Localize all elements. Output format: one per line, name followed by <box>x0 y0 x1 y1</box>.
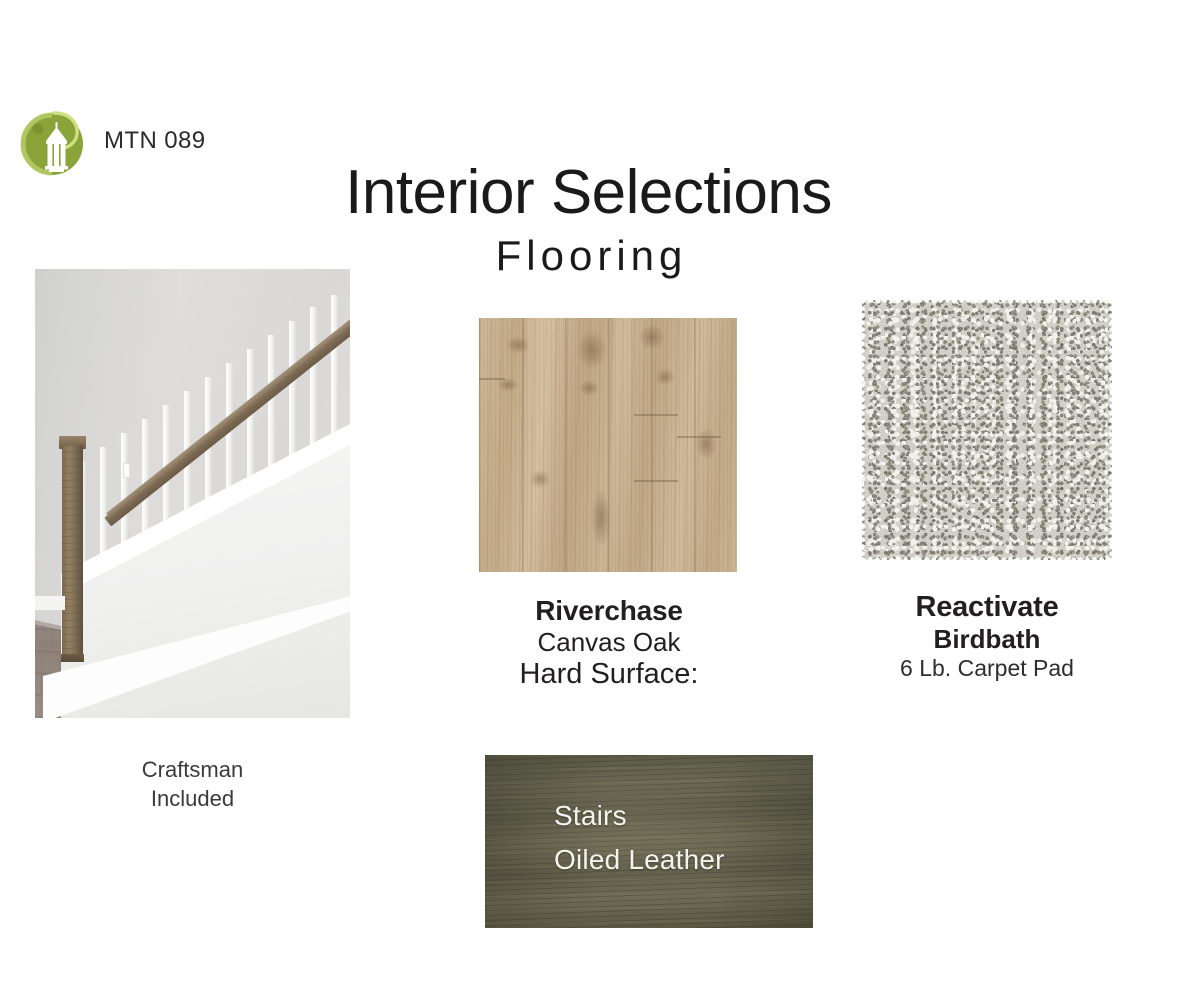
hard-surface-wood-swatch <box>479 318 737 572</box>
stairs-overlay-text: Stairs Oiled Leather <box>554 794 814 882</box>
caption-hard-surface-line2: Canvas Oak <box>449 627 769 657</box>
caption-carpet-line2: Birdbath <box>832 624 1142 655</box>
stairs-overlay-line1: Stairs <box>554 794 814 838</box>
stairs-overlay-line2: Oiled Leather <box>554 838 814 882</box>
caption-staircase-line2: Included <box>35 784 350 813</box>
caption-carpet-line1: Reactivate <box>832 590 1142 624</box>
photo-newel-foot <box>61 654 84 662</box>
caption-hard-surface-line1: Riverchase <box>449 595 769 627</box>
photo-handrail <box>81 297 350 547</box>
carpet-edge-left <box>862 300 866 560</box>
caption-staircase-line1: Craftsman <box>35 755 350 784</box>
caption-hard-surface: Riverchase Canvas Oak Hard Surface: <box>449 595 769 691</box>
carpet-edge-right <box>1108 300 1112 560</box>
staircase-photo <box>35 269 350 718</box>
caption-staircase: Craftsman Included <box>35 755 350 813</box>
carpet-edge-bottom <box>862 556 1112 560</box>
photo-newel-post <box>62 445 83 659</box>
caption-hard-surface-line3: Hard Surface: <box>449 658 769 692</box>
logo-label: MTN 089 <box>104 127 206 155</box>
photo-baseboard-left <box>35 596 65 610</box>
caption-carpet-line3: 6 Lb. Carpet Pad <box>832 655 1142 682</box>
carpet-fuzz <box>862 300 1112 560</box>
page-title: Interior Selections <box>0 162 1178 224</box>
carpet-edge-top <box>862 300 1112 304</box>
photo-light-switch <box>123 463 130 478</box>
caption-carpet: Reactivate Birdbath 6 Lb. Carpet Pad <box>832 590 1142 682</box>
carpet-swatch <box>862 300 1112 560</box>
